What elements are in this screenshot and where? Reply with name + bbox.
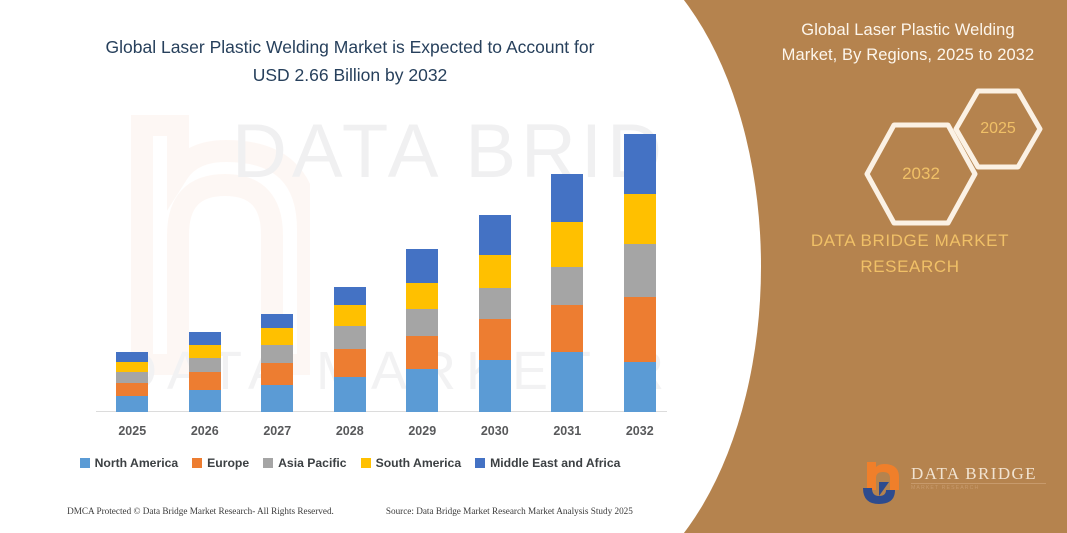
bar-segment bbox=[189, 345, 221, 358]
bar-column-2027[interactable] bbox=[261, 314, 293, 412]
legend-swatch-icon bbox=[192, 458, 202, 468]
bar-segment bbox=[261, 345, 293, 363]
bar-segment bbox=[479, 215, 511, 255]
legend-label: North America bbox=[95, 456, 179, 470]
x-axis-label-2031: 2031 bbox=[537, 424, 597, 438]
legend-label: Middle East and Africa bbox=[490, 456, 620, 470]
stacked-bar-plot bbox=[96, 120, 676, 412]
bar-segment bbox=[116, 352, 148, 362]
legend-swatch-icon bbox=[361, 458, 371, 468]
bar-column-2030[interactable] bbox=[479, 215, 511, 412]
bar-segment bbox=[334, 349, 366, 377]
hexagon-2025: 2025 bbox=[952, 87, 1044, 171]
infographic-root: DATA BRIDGE DATA MARKET RESEARCH Global … bbox=[0, 0, 1067, 533]
x-axis-label-2027: 2027 bbox=[247, 424, 307, 438]
chart-title-line-1: Global Laser Plastic Welding Market is E… bbox=[45, 33, 655, 61]
bar-segment bbox=[116, 372, 148, 383]
bar-segment bbox=[551, 352, 583, 412]
chart-title: Global Laser Plastic Welding Market is E… bbox=[45, 33, 655, 89]
x-axis-line bbox=[96, 411, 676, 412]
bar-segment bbox=[479, 319, 511, 359]
bar-segment bbox=[406, 309, 438, 335]
chart-legend: North AmericaEuropeAsia PacificSouth Ame… bbox=[0, 456, 700, 470]
hexagon-2025-label: 2025 bbox=[980, 120, 1016, 138]
bar-segment bbox=[189, 390, 221, 412]
bar-segment bbox=[334, 287, 366, 305]
panel-brand-line-2: RESEARCH bbox=[763, 254, 1057, 280]
bar-segment bbox=[624, 244, 656, 297]
bar-segment bbox=[406, 249, 438, 283]
bar-segment bbox=[624, 194, 656, 244]
logo-title: DATA BRIDGE bbox=[911, 464, 1037, 484]
bar-segment bbox=[261, 328, 293, 344]
x-axis-label-2026: 2026 bbox=[175, 424, 235, 438]
bar-segment bbox=[116, 362, 148, 372]
bar-segment bbox=[624, 297, 656, 361]
data-bridge-logo-icon bbox=[859, 460, 909, 506]
panel-title-line-1: Global Laser Plastic Welding bbox=[763, 18, 1053, 43]
bar-segment bbox=[189, 332, 221, 345]
logo-subtitle: MARKET RESEARCH bbox=[911, 485, 979, 491]
legend-swatch-icon bbox=[475, 458, 485, 468]
bar-segment bbox=[116, 396, 148, 412]
legend-swatch-icon bbox=[263, 458, 273, 468]
chart-title-line-2: USD 2.66 Billion by 2032 bbox=[45, 61, 655, 89]
bar-segment bbox=[551, 305, 583, 351]
hexagon-2032-label: 2032 bbox=[902, 164, 940, 184]
panel-brand-line-1: DATA BRIDGE MARKET bbox=[763, 228, 1057, 254]
panel-brand: DATA BRIDGE MARKET RESEARCH bbox=[667, 228, 1057, 280]
data-bridge-logo: DATA BRIDGE MARKET RESEARCH bbox=[859, 460, 1049, 510]
bar-segment bbox=[406, 336, 438, 369]
legend-item-europe[interactable]: Europe bbox=[192, 456, 249, 470]
bar-segment bbox=[551, 267, 583, 305]
bar-segment bbox=[261, 385, 293, 412]
bar-segment bbox=[624, 362, 656, 412]
panel-title: Global Laser Plastic Welding Market, By … bbox=[667, 18, 1053, 68]
bar-segment bbox=[189, 358, 221, 372]
side-panel: Global Laser Plastic Welding Market, By … bbox=[667, 0, 1067, 533]
footer: DMCA Protected © Data Bridge Market Rese… bbox=[0, 506, 700, 516]
x-axis-label-2032: 2032 bbox=[610, 424, 670, 438]
legend-item-north-america[interactable]: North America bbox=[80, 456, 179, 470]
legend-item-asia-pacific[interactable]: Asia Pacific bbox=[263, 456, 346, 470]
legend-label: Asia Pacific bbox=[278, 456, 346, 470]
bar-column-2029[interactable] bbox=[406, 249, 438, 412]
bar-segment bbox=[406, 283, 438, 309]
x-axis-label-2030: 2030 bbox=[465, 424, 525, 438]
hexagon-group: 2032 2025 bbox=[862, 95, 1052, 215]
bar-segment bbox=[551, 174, 583, 221]
bar-column-2031[interactable] bbox=[551, 174, 583, 412]
x-axis-labels: 20252026202720282029203020312032 bbox=[96, 424, 676, 444]
bar-segment bbox=[334, 326, 366, 348]
x-axis-label-2028: 2028 bbox=[320, 424, 380, 438]
bar-segment bbox=[116, 383, 148, 396]
bar-segment bbox=[334, 305, 366, 326]
panel-title-line-2: Market, By Regions, 2025 to 2032 bbox=[763, 43, 1053, 68]
footer-source-text: Source: Data Bridge Market Research Mark… bbox=[386, 506, 633, 516]
chart-area: DATA BRIDGE DATA MARKET RESEARCH Global … bbox=[0, 0, 700, 533]
bar-segment bbox=[479, 360, 511, 412]
bar-column-2028[interactable] bbox=[334, 287, 366, 412]
bar-segment bbox=[189, 372, 221, 390]
bar-column-2025[interactable] bbox=[116, 352, 148, 412]
bar-segment bbox=[334, 377, 366, 412]
legend-label: Europe bbox=[207, 456, 249, 470]
bar-segment bbox=[551, 222, 583, 267]
bar-segment bbox=[479, 255, 511, 288]
bar-segment bbox=[406, 369, 438, 412]
bar-segment bbox=[479, 288, 511, 319]
x-axis-label-2029: 2029 bbox=[392, 424, 452, 438]
bar-segment bbox=[624, 134, 656, 193]
footer-dmca-text: DMCA Protected © Data Bridge Market Rese… bbox=[67, 506, 334, 516]
bar-column-2026[interactable] bbox=[189, 332, 221, 413]
legend-swatch-icon bbox=[80, 458, 90, 468]
legend-item-south-america[interactable]: South America bbox=[361, 456, 462, 470]
bar-column-2032[interactable] bbox=[624, 134, 656, 412]
bar-segment bbox=[261, 363, 293, 385]
x-axis-label-2025: 2025 bbox=[102, 424, 162, 438]
legend-label: South America bbox=[376, 456, 462, 470]
logo-rule bbox=[911, 483, 1046, 484]
legend-item-middle-east-and-africa[interactable]: Middle East and Africa bbox=[475, 456, 620, 470]
bar-segment bbox=[261, 314, 293, 328]
